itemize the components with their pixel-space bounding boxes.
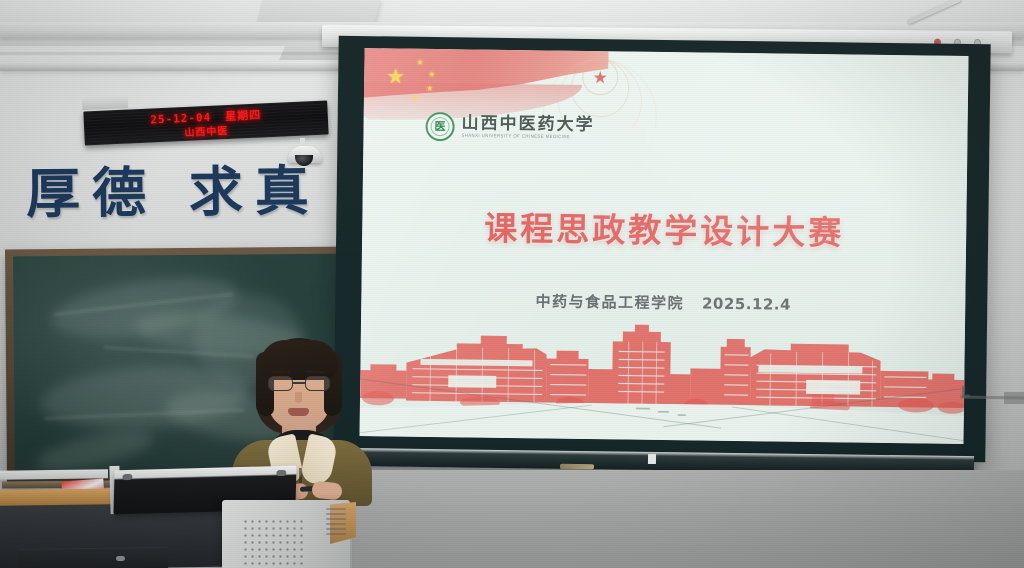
presentation-slide: ★ ★ ★ ★ ★ ★ 医 bbox=[360, 48, 969, 444]
campus-skyline-svg bbox=[360, 308, 966, 444]
projection-screen-frame: ★ ★ ★ ★ ★ ★ 医 bbox=[333, 36, 990, 462]
screen-pull-handle[interactable] bbox=[648, 454, 656, 464]
presenter-mouth bbox=[288, 408, 309, 416]
university-seal-glyph: 医 bbox=[435, 121, 446, 132]
flag-star-small-icon: ★ bbox=[426, 85, 433, 93]
lectern-speaker-grille bbox=[242, 518, 306, 568]
university-name-block: 山西中医药大学 SHANXI UNIVERSITY OF CHINESE MED… bbox=[461, 116, 594, 140]
wall-seam bbox=[0, 52, 340, 55]
lower-wall-band bbox=[352, 470, 1024, 568]
flag-star-large-icon: ★ bbox=[386, 66, 405, 87]
monitor-hinge bbox=[122, 474, 132, 480]
slide-subtitle-date: 2025.12.4 bbox=[702, 295, 791, 314]
wall-motto-calligraphy: 厚德 求真 bbox=[26, 154, 327, 229]
screenshot-root: 25-12-04星期四 山西中医 厚德 求真 bbox=[0, 0, 1024, 568]
projection-screen-surface[interactable]: ★ ★ ★ ★ ★ ★ 医 bbox=[360, 48, 969, 444]
presenter-nose bbox=[295, 392, 302, 403]
rosette-star-icon: ★ bbox=[593, 69, 608, 86]
presenter-glasses-icon bbox=[266, 376, 332, 392]
flag-star-small-icon: ★ bbox=[412, 95, 419, 103]
university-seal-icon: 医 bbox=[425, 112, 454, 141]
screen-latch-plate bbox=[560, 464, 594, 469]
podium-drawer[interactable] bbox=[18, 547, 168, 568]
led-board-mount bbox=[82, 95, 129, 110]
flag-star-small-icon: ★ bbox=[416, 59, 423, 67]
glasses-lens-left bbox=[268, 376, 293, 391]
presenter-hand-right bbox=[311, 480, 343, 500]
presenter-hair-front bbox=[260, 340, 338, 380]
slide-title: 课程思政教学设计大赛 bbox=[362, 200, 967, 256]
glasses-bridge bbox=[293, 382, 305, 384]
multimedia-lectern[interactable] bbox=[222, 500, 350, 568]
podium-drawer-knob[interactable] bbox=[116, 556, 125, 561]
wall-plate bbox=[1004, 392, 1024, 404]
lectern-side-vents bbox=[326, 508, 346, 538]
campus-panorama-illustration bbox=[360, 308, 966, 444]
glasses-lens-right bbox=[305, 376, 330, 391]
slide-subtitle-department: 中药与食品工程学院 bbox=[535, 292, 684, 312]
flag-star-small-icon: ★ bbox=[428, 71, 435, 79]
university-logo-lockup: 医 山西中医药大学 SHANXI UNIVERSITY OF CHINESE M… bbox=[425, 112, 594, 143]
monitor-hinge bbox=[276, 470, 286, 476]
university-name-en: SHANXI UNIVERSITY OF CHINESE MEDICINE bbox=[461, 134, 594, 141]
wall-shelf-strip bbox=[0, 469, 108, 480]
